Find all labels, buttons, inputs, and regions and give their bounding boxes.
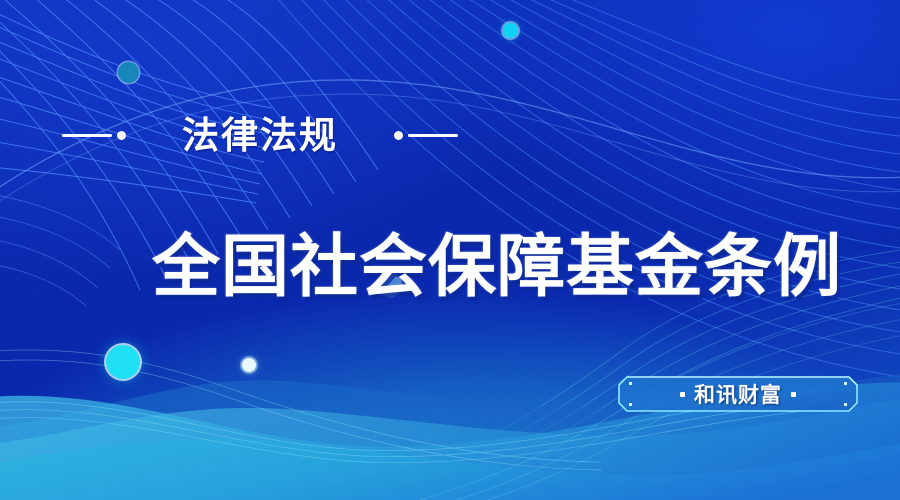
cyan-circle-dot-decoration <box>503 23 518 38</box>
brand-badge: 和讯财富 <box>618 376 858 412</box>
teal-circle-dot-decoration <box>118 62 139 83</box>
blue-circle-dot-decoration <box>379 274 401 296</box>
badge-separator-right-icon <box>791 392 796 397</box>
badge-brand-text: 和讯财富 <box>694 379 782 409</box>
badge-separator-left-icon <box>680 392 685 397</box>
badge-label-row: 和讯财富 <box>618 376 858 412</box>
promotional-banner: 法律法规 全国社会保障基金条例 <box>0 0 900 500</box>
large-cyan-circle-dot-decoration <box>106 345 140 379</box>
small-white-circle-dot-decoration <box>242 358 256 372</box>
